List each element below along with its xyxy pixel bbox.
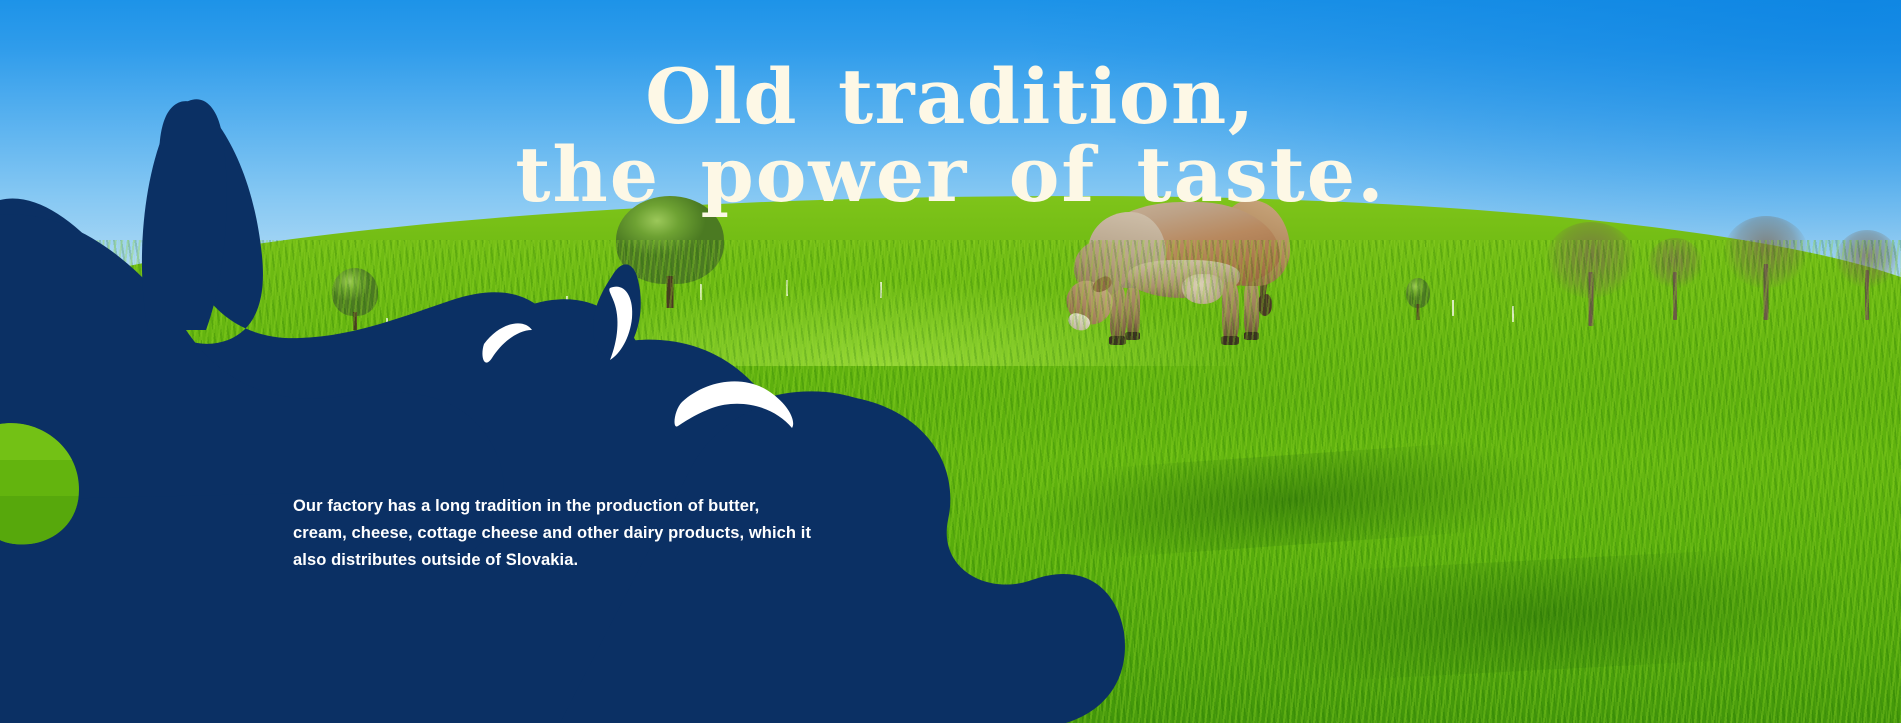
intro-line-3: also distributes outside of Slovakia. bbox=[293, 547, 893, 574]
page-title: Old tradition, the power of taste. bbox=[0, 58, 1901, 214]
intro-paragraph: Our factory has a long tradition in the … bbox=[293, 493, 893, 574]
intro-line-2: cream, cheese, cottage cheese and other … bbox=[293, 520, 893, 547]
headline-line-1: Old tradition, bbox=[645, 52, 1255, 141]
intro-line-1: Our factory has a long tradition in the … bbox=[293, 493, 893, 520]
headline-line-2: the power of taste. bbox=[0, 136, 1901, 214]
hero-banner: Old tradition, the power of taste. Our f… bbox=[0, 0, 1901, 723]
